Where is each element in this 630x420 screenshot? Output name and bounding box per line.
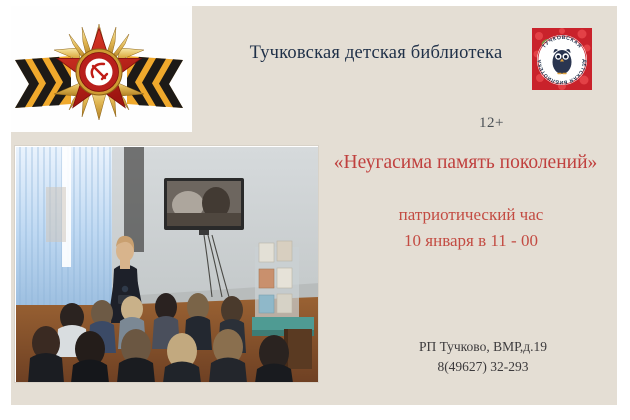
library-event-photo [16,147,319,383]
event-datetime: 10 января в 11 - 00 [351,228,591,254]
tuchkovo-library-owl-logo: ТУЧКОВСКАЯ ДЕТСКАЯ БИБЛИОТЕКА [532,28,592,90]
contact-address: РП Тучково, ВМР,д.19 [363,337,603,357]
order-of-patriotic-war-emblem [13,16,185,124]
event-details: патриотический час 10 января в 11 - 00 [351,202,591,254]
presentation-slide: Тучковская детская библиотека ТУЧКОВСК [11,6,617,405]
contact-details: РП Тучково, ВМР,д.19 8(49627) 32-293 [363,337,603,377]
event-heading: «Неугасима память поколений» [314,152,617,174]
event-type: патриотический час [351,202,591,228]
age-rating-badge: 12+ [479,115,504,132]
contact-phone: 8(49627) 32-293 [363,357,603,377]
page-title: Тучковская детская библиотека [211,43,541,64]
library-event-photo-frame [14,145,319,383]
